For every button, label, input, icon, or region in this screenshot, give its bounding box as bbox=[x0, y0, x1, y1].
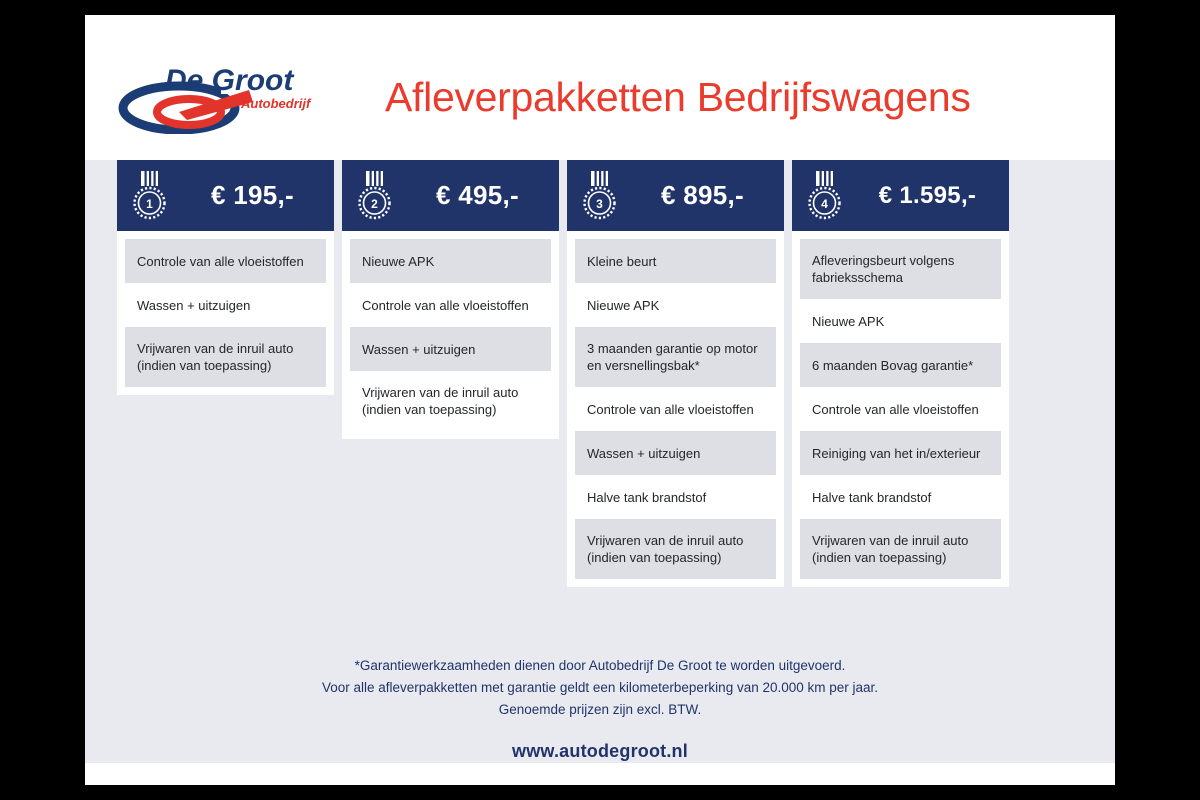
package-cards: 1 € 195,- Controle van alle vloeistoffen… bbox=[85, 160, 1115, 587]
svg-text:Autobedrijf: Autobedrijf bbox=[240, 96, 312, 111]
package-header-3: 3 € 895,- bbox=[567, 160, 784, 231]
poster-footer: *Garantiewerkzaamheden dienen door Autob… bbox=[85, 655, 1115, 762]
feature-row: Wassen + uitzuigen bbox=[350, 327, 551, 371]
company-logo: De Groot Autobedrijf bbox=[117, 62, 332, 134]
feature-row: Nieuwe APK bbox=[800, 299, 1001, 343]
feature-row: 3 maanden garantie op motor en versnelli… bbox=[575, 327, 776, 387]
poster-header: De Groot Autobedrijf Afleverpakketten Be… bbox=[85, 15, 1115, 160]
package-price: € 195,- bbox=[177, 180, 328, 211]
package-card-4[interactable]: 4 € 1.595,- Afleveringsbeurt volgens fab… bbox=[792, 160, 1009, 587]
feature-row: Vrijwaren van de inruil auto (indien van… bbox=[350, 371, 551, 431]
feature-row: Controle van alle vloeistoffen bbox=[575, 387, 776, 431]
feature-row: Nieuwe APK bbox=[575, 283, 776, 327]
feature-row: Vrijwaren van de inruil auto (indien van… bbox=[575, 519, 776, 579]
medal-icon: 3 bbox=[579, 170, 619, 222]
medal-icon: 4 bbox=[804, 170, 844, 222]
package-header-1: 1 € 195,- bbox=[117, 160, 334, 231]
feature-row: Controle van alle vloeistoffen bbox=[125, 239, 326, 283]
footer-note-2: Voor alle afleverpakketten met garantie … bbox=[85, 677, 1115, 699]
medal-number: 4 bbox=[821, 197, 828, 211]
bottom-white-band bbox=[85, 763, 1115, 785]
medal-number: 1 bbox=[146, 197, 153, 211]
package-feature-list-3: Kleine beurt Nieuwe APK 3 maanden garant… bbox=[567, 231, 784, 587]
website-url[interactable]: www.autodegroot.nl bbox=[85, 741, 1115, 762]
svg-text:De Groot: De Groot bbox=[165, 64, 295, 97]
feature-row: Vrijwaren van de inruil auto (indien van… bbox=[800, 519, 1001, 579]
medal-number: 2 bbox=[371, 197, 378, 211]
footer-note-3: Genoemde prijzen zijn excl. BTW. bbox=[85, 699, 1115, 721]
page-title: Afleverpakketten Bedrijfswagens bbox=[385, 65, 1085, 129]
package-price: € 895,- bbox=[627, 180, 778, 211]
feature-row: Kleine beurt bbox=[575, 239, 776, 283]
feature-row: Controle van alle vloeistoffen bbox=[800, 387, 1001, 431]
package-feature-list-2: Nieuwe APK Controle van alle vloeistoffe… bbox=[342, 231, 559, 439]
package-price: € 1.595,- bbox=[852, 182, 1003, 210]
feature-row: Reiniging van het in/exterieur bbox=[800, 431, 1001, 475]
poster-canvas: De Groot Autobedrijf Afleverpakketten Be… bbox=[85, 15, 1115, 785]
package-card-1[interactable]: 1 € 195,- Controle van alle vloeistoffen… bbox=[117, 160, 334, 587]
feature-row: Halve tank brandstof bbox=[575, 475, 776, 519]
medal-icon: 1 bbox=[129, 170, 169, 222]
feature-row: Wassen + uitzuigen bbox=[575, 431, 776, 475]
package-feature-list-4: Afleveringsbeurt volgens fabrieksschema … bbox=[792, 231, 1009, 587]
de-groot-logo-icon: De Groot Autobedrijf bbox=[117, 62, 332, 134]
feature-row: Halve tank brandstof bbox=[800, 475, 1001, 519]
feature-row: Controle van alle vloeistoffen bbox=[350, 283, 551, 327]
feature-row: Afleveringsbeurt volgens fabrieksschema bbox=[800, 239, 1001, 299]
medal-icon: 2 bbox=[354, 170, 394, 222]
medal-number: 3 bbox=[596, 197, 603, 211]
package-feature-list-1: Controle van alle vloeistoffen Wassen + … bbox=[117, 231, 334, 395]
footer-note-1: *Garantiewerkzaamheden dienen door Autob… bbox=[85, 655, 1115, 677]
feature-row: Nieuwe APK bbox=[350, 239, 551, 283]
feature-row: 6 maanden Bovag garantie* bbox=[800, 343, 1001, 387]
package-card-2[interactable]: 2 € 495,- Nieuwe APK Controle van alle v… bbox=[342, 160, 559, 587]
package-card-3[interactable]: 3 € 895,- Kleine beurt Nieuwe APK 3 maan… bbox=[567, 160, 784, 587]
package-header-4: 4 € 1.595,- bbox=[792, 160, 1009, 231]
package-header-2: 2 € 495,- bbox=[342, 160, 559, 231]
feature-row: Vrijwaren van de inruil auto (indien van… bbox=[125, 327, 326, 387]
feature-row: Wassen + uitzuigen bbox=[125, 283, 326, 327]
package-price: € 495,- bbox=[402, 180, 553, 211]
